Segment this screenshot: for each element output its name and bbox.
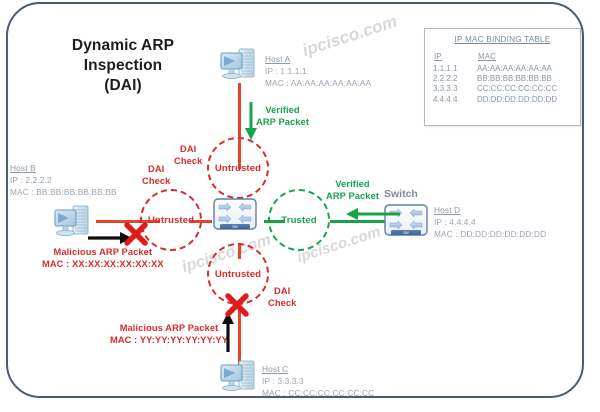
binding-mac: CC:CC:CC:CC:CC:CC [477, 84, 572, 94]
dai-check-3-line-2: Check [268, 297, 296, 309]
host-c-node[interactable] [218, 358, 262, 401]
right-switch-caption: Switch [384, 188, 418, 200]
dai-check-2-line-2: Check [142, 175, 170, 187]
binding-mac: AA:AA:AA:AA:AA:AA [477, 63, 572, 73]
malicious-bottom-title: Malicious ARP Packet [110, 322, 228, 334]
dai-check-label-3: DAI Check [268, 285, 296, 309]
malicious-bottom-mac: MAC : YY:YY:YY:YY:YY:YY [110, 334, 228, 346]
binding-mac: BB:BB:BB:BB:BB:BB [477, 73, 572, 83]
switch-icon: SW [384, 204, 428, 236]
table-row: 2.2.2.2 BB:BB:BB:BB:BB:BB [433, 73, 572, 83]
binding-ip: 3.3.3.3 [433, 84, 477, 94]
title-line-3: (DAI) [28, 76, 218, 96]
dai-check-label-1: DAI Check [174, 143, 202, 167]
malicious-left-mac: MAC : XX:XX:XX:XX:XX:XX [42, 258, 164, 270]
table-row: 1.1.1.1 AA:AA:AA:AA:AA:AA [433, 63, 572, 73]
binding-table-grid: IP MAC 1.1.1.1 AA:AA:AA:AA:AA:AA 2.2.2.2… [433, 51, 572, 105]
host-d-ip: IP : 4.4.4.4 [434, 217, 546, 229]
port-trusted-right-label: Trusted [281, 215, 316, 226]
binding-ip: 2.2.2.2 [433, 73, 477, 83]
port-trusted-right[interactable]: Trusted [268, 189, 330, 251]
verified-top-line-1: Verified [256, 104, 309, 116]
host-d-label: Host D IP : 4.4.4.4 MAC : DD:DD:DD:DD:DD… [434, 205, 546, 240]
svg-text:SW: SW [403, 231, 409, 235]
binding-ip: 1.1.1.1 [433, 63, 477, 73]
host-a-label: Host A IP : 1.1.1.1 MAC : AA:AA:AA:AA:AA… [265, 54, 371, 89]
host-a-name: Host A [265, 54, 371, 66]
title-line-1: Dynamic ARP [28, 36, 218, 56]
computer-icon [52, 203, 96, 241]
host-b-label: Host B IP : 2.2.2.2 MAC : BB:BB:BB:BB:BB… [10, 163, 117, 198]
dai-check-2-line-1: DAI [142, 163, 170, 175]
host-d-name: Host D [434, 205, 546, 217]
port-untrusted-left-label: Untrusted [148, 215, 194, 226]
dai-check-1-line-2: Check [174, 155, 202, 167]
binding-table-title: IP MAC BINDING TABLE [433, 35, 572, 44]
host-b-node[interactable] [52, 203, 96, 246]
host-c-mac: MAC : CC:CC:CC:CC:CC:CC [262, 388, 374, 400]
diagram-title: Dynamic ARP Inspection (DAI) [28, 36, 218, 95]
verified-arp-label-top: Verified ARP Packet [256, 104, 309, 128]
host-b-mac: MAC : BB:BB:BB:BB:BB:BB [10, 187, 117, 199]
binding-mac: DD:DD:DD:DD:DD:DD [477, 94, 572, 104]
host-c-name: Host C [262, 364, 374, 376]
link-right-switch-to-trusted [330, 220, 392, 223]
center-switch[interactable]: SW [213, 198, 257, 235]
diagram-canvas: ipcisco.com ipcisco.com ipcisco.com Dyna… [0, 0, 600, 412]
host-c-label: Host C IP : 3.3.3.3 MAC : CC:CC:CC:CC:CC… [262, 364, 374, 399]
verified-arp-label-right: Verified ARP Packet [326, 178, 379, 202]
verified-top-line-2: ARP Packet [256, 116, 309, 128]
malicious-arp-label-bottom: Malicious ARP Packet MAC : YY:YY:YY:YY:Y… [110, 322, 228, 346]
dai-check-3-line-1: DAI [268, 285, 296, 297]
svg-text:SW: SW [232, 225, 238, 229]
port-untrusted-top[interactable]: Untrusted [207, 137, 269, 199]
computer-icon [218, 46, 262, 84]
switch-icon: SW [213, 198, 257, 230]
host-b-name: Host B [10, 163, 117, 175]
port-untrusted-top-label: Untrusted [215, 163, 261, 174]
computer-icon [218, 358, 262, 396]
host-a-mac: MAC : AA:AA:AA:AA:AA:AA [265, 78, 371, 90]
port-untrusted-left[interactable]: Untrusted [140, 189, 202, 251]
binding-header-ip: IP [433, 51, 477, 63]
table-row: 3.3.3.3 CC:CC:CC:CC:CC:CC [433, 84, 572, 94]
host-b-ip: IP : 2.2.2.2 [10, 175, 117, 187]
host-a-ip: IP : 1.1.1.1 [265, 66, 371, 78]
port-untrusted-bottom-label: Untrusted [215, 269, 261, 280]
malicious-arp-label-left: Malicious ARP Packet MAC : XX:XX:XX:XX:X… [42, 246, 164, 270]
verified-right-line-2: ARP Packet [326, 190, 379, 202]
table-row: 4.4.4.4 DD:DD:DD:DD:DD:DD [433, 94, 572, 104]
verified-right-line-1: Verified [326, 178, 379, 190]
port-untrusted-bottom[interactable]: Untrusted [207, 243, 269, 305]
dai-check-1-line-1: DAI [174, 143, 202, 155]
binding-ip: 4.4.4.4 [433, 94, 477, 104]
dai-check-label-2: DAI Check [142, 163, 170, 187]
host-c-ip: IP : 3.3.3.3 [262, 376, 374, 388]
malicious-left-title: Malicious ARP Packet [42, 246, 164, 258]
host-d-mac: MAC : DD:DD:DD:DD:DD:DD [434, 229, 546, 241]
binding-header-mac: MAC [477, 51, 572, 63]
binding-table-header-row: IP MAC [433, 51, 572, 63]
host-a-node[interactable] [218, 46, 262, 89]
ip-mac-binding-table: IP MAC BINDING TABLE IP MAC 1.1.1.1 AA:A… [424, 28, 581, 126]
title-line-2: Inspection [28, 56, 218, 76]
right-switch-node[interactable]: SW [384, 204, 428, 241]
